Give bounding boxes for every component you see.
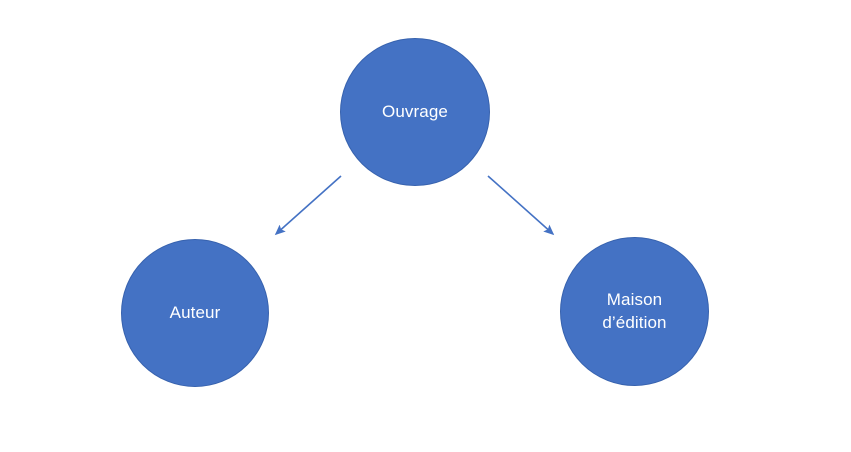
edge-ouvrage-to-auteur [276, 176, 341, 234]
node-auteur-label: Auteur [160, 302, 231, 324]
node-ouvrage[interactable]: Ouvrage [340, 38, 490, 186]
node-maison-d-edition[interactable]: Maison d’édition [560, 237, 709, 386]
edge-ouvrage-to-maison [488, 176, 553, 234]
diagram-canvas: Ouvrage Auteur Maison d’édition [0, 0, 851, 452]
node-maison-d-edition-label: Maison d’édition [592, 289, 676, 334]
node-auteur[interactable]: Auteur [121, 239, 269, 387]
node-ouvrage-label: Ouvrage [372, 101, 458, 123]
